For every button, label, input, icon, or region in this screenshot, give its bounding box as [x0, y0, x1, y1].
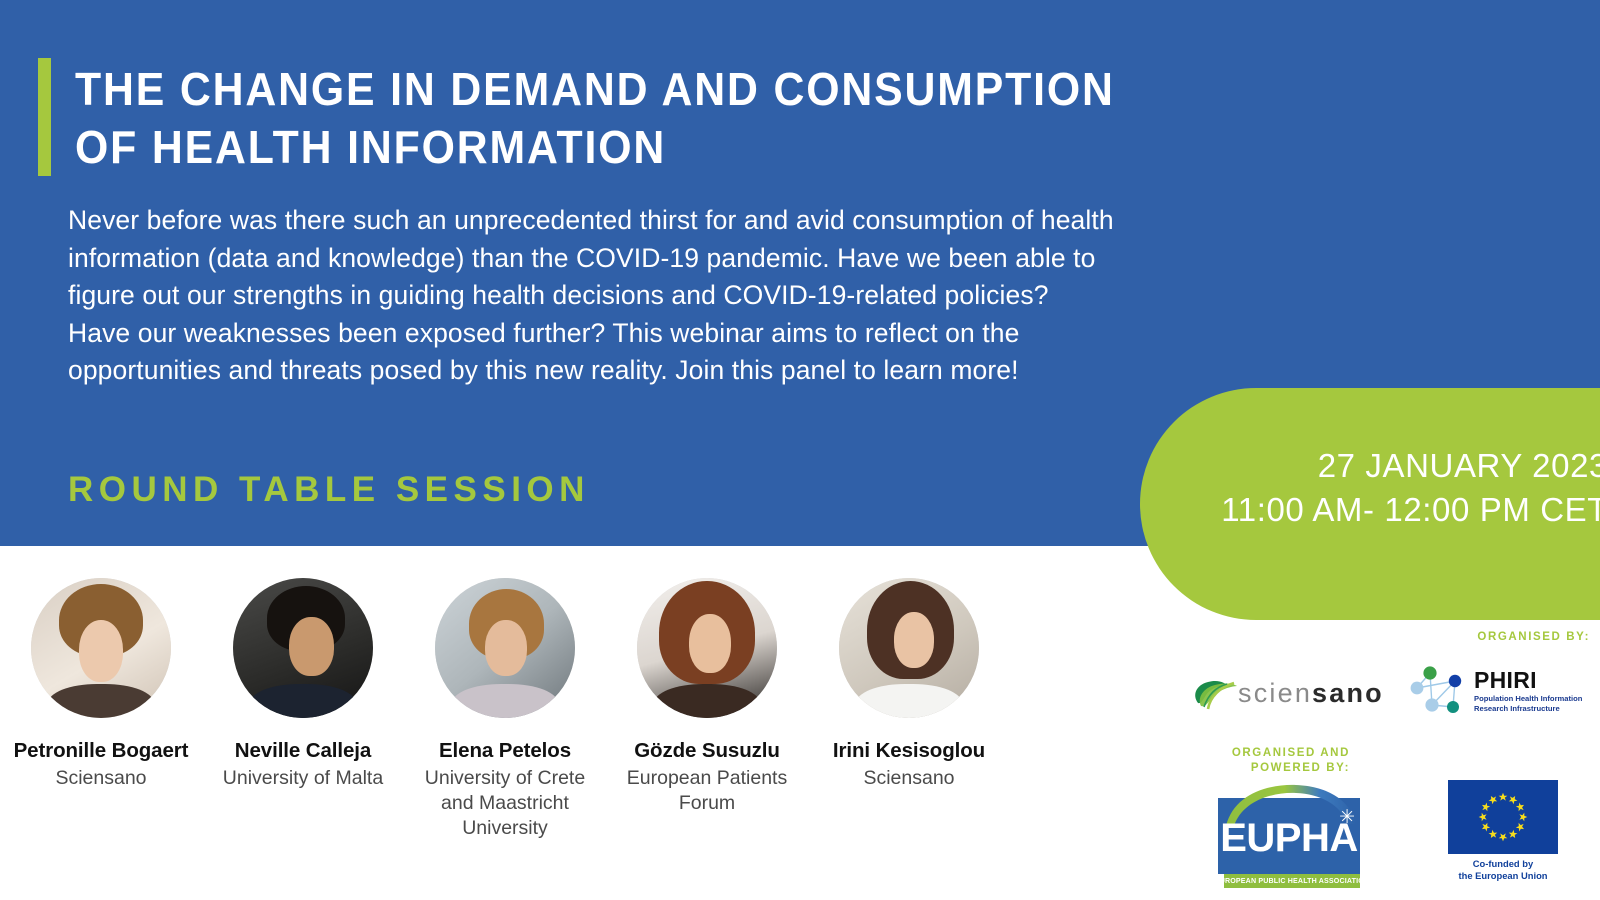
sciensano-leaf-icon	[1188, 673, 1240, 713]
eu-funding-logo: Co-funded by the European Union	[1448, 780, 1568, 892]
speaker-card: Irini Kesisoglou Sciensano	[808, 560, 1010, 900]
speaker-affiliation: University of Malta	[223, 766, 383, 791]
speakers-row: Petronille Bogaert Sciensano Neville Cal…	[0, 560, 1010, 900]
speaker-name: Elena Petelos	[439, 738, 571, 763]
phiri-wordmark: PHIRI	[1474, 669, 1582, 692]
phiri-logo: PHIRI Population Health Information Rese…	[1408, 660, 1600, 722]
eu-flag-icon	[1448, 780, 1558, 854]
phiri-tagline: Population Health Information Research I…	[1474, 694, 1582, 713]
avatar	[839, 578, 979, 718]
title-accent-bar	[38, 58, 51, 176]
sciensano-wordmark: sciensano	[1238, 678, 1384, 709]
avatar	[637, 578, 777, 718]
speaker-affiliation: University of Crete and Maastricht Unive…	[412, 766, 598, 841]
speaker-card: Neville Calleja University of Malta	[202, 560, 404, 900]
organised-and-powered-by-label: ORGANISED AND POWERED BY:	[1190, 746, 1350, 776]
speaker-name: Petronille Bogaert	[14, 738, 189, 763]
speaker-card: Gözde Susuzlu European Patients Forum	[606, 560, 808, 900]
event-date: 27 JANUARY 2023	[1140, 444, 1600, 488]
event-time: 11:00 AM- 12:00 PM CET	[1140, 488, 1600, 532]
event-datetime-badge: 27 JANUARY 2023 11:00 AM- 12:00 PM CET	[1140, 388, 1600, 620]
avatar	[435, 578, 575, 718]
sciensano-word-dark: sano	[1312, 678, 1384, 708]
eu-funding-caption: Co-funded by the European Union	[1448, 858, 1558, 881]
avatar	[31, 578, 171, 718]
sciensano-logo: sciensano	[1188, 664, 1388, 722]
sciensano-word-light: scien	[1238, 678, 1312, 708]
organised-by-label: ORGANISED BY:	[1430, 630, 1590, 645]
speaker-affiliation: Sciensano	[55, 766, 146, 791]
eupha-star-icon: ✳	[1339, 808, 1355, 827]
speaker-card: Petronille Bogaert Sciensano	[0, 560, 202, 900]
speaker-affiliation: European Patients Forum	[614, 766, 800, 816]
page-title: The change in demand and consumption of …	[38, 58, 1328, 176]
speaker-name: Irini Kesisoglou	[833, 738, 985, 763]
speaker-card: Elena Petelos University of Crete and Ma…	[404, 560, 606, 900]
avatar	[233, 578, 373, 718]
description-text: Never before was there such an unprecede…	[68, 202, 1118, 390]
eupha-logo: EUPHA ✳ EUROPEAN PUBLIC HEALTH ASSOCIATI…	[1218, 782, 1360, 892]
speaker-affiliation: Sciensano	[863, 766, 954, 791]
speaker-name: Neville Calleja	[235, 738, 371, 763]
eupha-association-strip: EUROPEAN PUBLIC HEALTH ASSOCIATION	[1224, 874, 1360, 888]
logos-cluster: ORGANISED BY: ORGANISED AND POWERED BY: …	[1180, 620, 1600, 900]
speaker-name: Gözde Susuzlu	[634, 738, 780, 763]
session-type-label: Round Table Session	[68, 470, 590, 510]
phiri-network-icon	[1408, 663, 1470, 719]
title-text: The change in demand and consumption of …	[75, 58, 1115, 176]
